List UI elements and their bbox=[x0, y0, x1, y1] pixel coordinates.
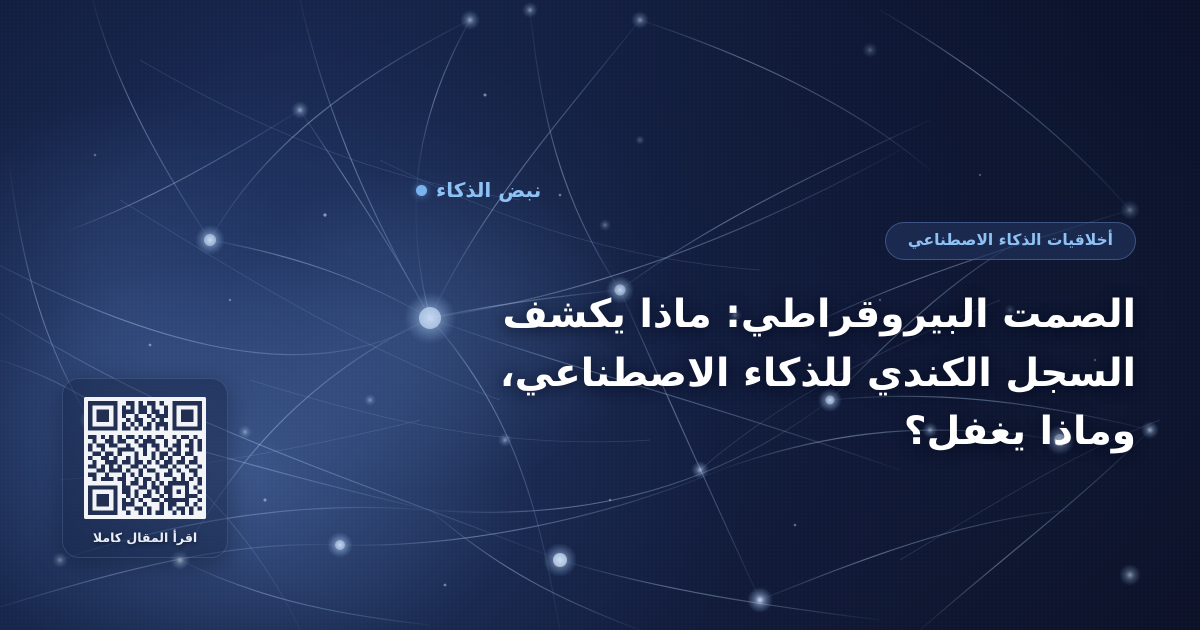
qr-code-icon[interactable] bbox=[84, 397, 206, 519]
social-card-canvas: نبض الذكاء أخلاقيات الذكاء الاصطناعي الص… bbox=[0, 0, 1200, 630]
qr-card[interactable]: اقرأ المقال كاملا bbox=[62, 378, 228, 558]
qr-caption: اقرأ المقال كاملا bbox=[93, 532, 197, 545]
page-title: الصمت البيروقراطي: ماذا يكشف السجل الكند… bbox=[436, 286, 1136, 462]
badge-row: أخلاقيات الذكاء الاصطناعي bbox=[416, 222, 1136, 260]
content-column: نبض الذكاء أخلاقيات الذكاء الاصطناعي الص… bbox=[416, 180, 1136, 462]
brand-lockup: نبض الذكاء bbox=[416, 180, 1136, 200]
brand-name: نبض الذكاء bbox=[436, 180, 541, 200]
category-badge[interactable]: أخلاقيات الذكاء الاصطناعي bbox=[885, 222, 1136, 260]
brand-dot-icon bbox=[416, 185, 427, 196]
